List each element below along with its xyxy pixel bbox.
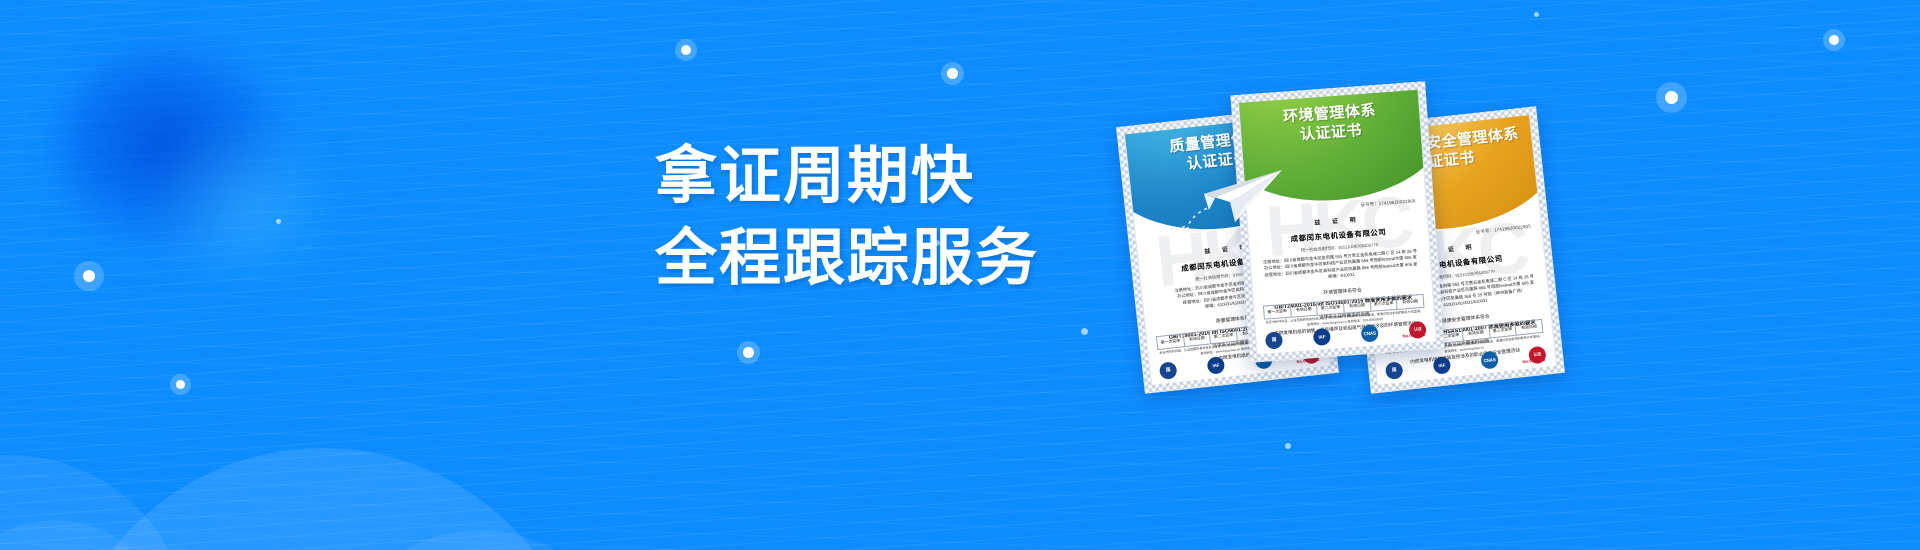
decorative-circle-2 — [55, 448, 590, 550]
cyan-glow-blob — [150, 120, 340, 290]
decorative-dot-11 — [1829, 35, 1839, 45]
national-emblem-seal-icon: 国 — [1159, 361, 1178, 380]
iaf-logo-icon: IAF — [1432, 356, 1451, 375]
cnas-logo-icon: CNAS — [1361, 324, 1379, 342]
decorative-dot-1 — [276, 219, 281, 224]
iaf-logo-icon: IAF — [1313, 327, 1331, 345]
audit-cell: 有效日期 — [1463, 325, 1491, 340]
audit-cell: 第三次监审 — [1489, 322, 1517, 337]
audit-cell: 有效日期 — [1516, 320, 1543, 335]
national-emblem-seal-icon: 国 — [1265, 331, 1283, 349]
decorative-dot-6 — [743, 347, 754, 358]
promo-banner: 拿证周期快 全程跟踪服务 HKCHKC BEIJING HKC BEIJING … — [0, 0, 1920, 550]
paper-plane-icon — [1178, 152, 1298, 242]
decorative-dot-8 — [1081, 328, 1088, 335]
audit-cell: 有效日期 — [1291, 302, 1319, 316]
cnas-logo-icon: CNAS — [1480, 350, 1499, 369]
audit-cell: 第二次监审 — [1210, 328, 1238, 343]
audit-cell: 第二次监审 — [1317, 300, 1345, 314]
headline-line-2: 全程跟踪服务 — [655, 218, 1055, 300]
certificate-group: HKCHKC BEIJING HKC BEIJING HKC BEIJING H… — [1100, 60, 1920, 490]
audit-cell: 第一次监审 — [1264, 304, 1292, 318]
audit-cell: 有效日期 — [1397, 295, 1424, 309]
audit-cell: 第三次监审 — [1370, 296, 1398, 310]
decorative-dot-2 — [83, 270, 95, 282]
headline-block: 拿证周期快 全程跟踪服务 — [655, 136, 1055, 300]
audit-cell: 有效日期 — [1344, 298, 1372, 312]
headline-line-1: 拿证周期快 — [655, 136, 1055, 218]
national-emblem-seal-icon: 国 — [1385, 361, 1404, 380]
audit-cell: 第一次监审 — [1157, 334, 1185, 349]
iaf-logo-icon: IAF — [1206, 356, 1225, 375]
decorative-dot-3 — [176, 380, 185, 389]
decorative-dot-4 — [681, 45, 691, 55]
decorative-dot-9 — [1534, 12, 1539, 17]
audit-cell: 有效日期 — [1183, 331, 1211, 346]
decorative-dot-5 — [947, 68, 958, 79]
